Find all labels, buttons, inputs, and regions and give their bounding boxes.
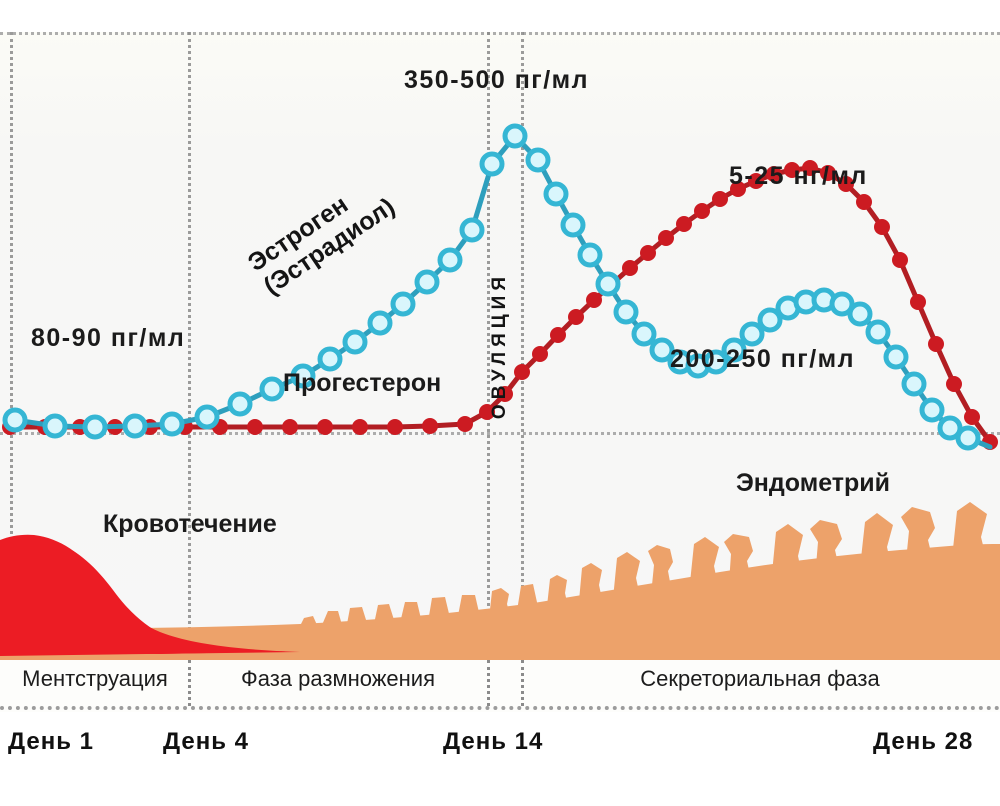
phase-band-rule (0, 706, 1000, 710)
annotation-estrogen-baseline-value: 80-90 пг/мл (31, 324, 185, 353)
phase-divider-2 (487, 660, 490, 706)
plot-area: 350-500 пг/мл 80-90 пг/мл 5-25 нг/мл 200… (0, 32, 1000, 660)
cycle-chart: 350-500 пг/мл 80-90 пг/мл 5-25 нг/мл 200… (0, 0, 1000, 806)
day-axis: День 1 День 4 День 14 День 28 (0, 716, 1000, 776)
annotation-estrogen-peak-value: 350-500 пг/мл (404, 66, 589, 95)
annotation-endometrium: Эндометрий (736, 469, 890, 498)
phase-divider-1 (188, 660, 191, 706)
phase-label-proliferative: Фаза размножения (192, 666, 484, 692)
annotation-estrogen-luteal-value: 200-250 пг/мл (670, 345, 855, 374)
series-label-progesterone: Прогестерон (283, 369, 441, 398)
day-tick-28: День 28 (873, 728, 973, 756)
day-tick-1: День 1 (8, 728, 94, 756)
phase-band: Ментструация Фаза размножения Секреториа… (0, 660, 1000, 712)
phase-label-menstruation: Ментструация (4, 666, 186, 692)
annotation-progesterone-peak-value: 5-25 нг/мл (729, 162, 868, 191)
day-tick-4: День 4 (163, 728, 249, 756)
annotation-ovulation: ОВУЛЯЦИЯ (489, 272, 511, 419)
phase-divider-3 (521, 660, 524, 706)
annotation-bleeding: Кровотечение (103, 510, 277, 539)
phase-label-secretory: Секреториальная фаза (525, 666, 995, 692)
day-tick-14: День 14 (443, 728, 543, 756)
